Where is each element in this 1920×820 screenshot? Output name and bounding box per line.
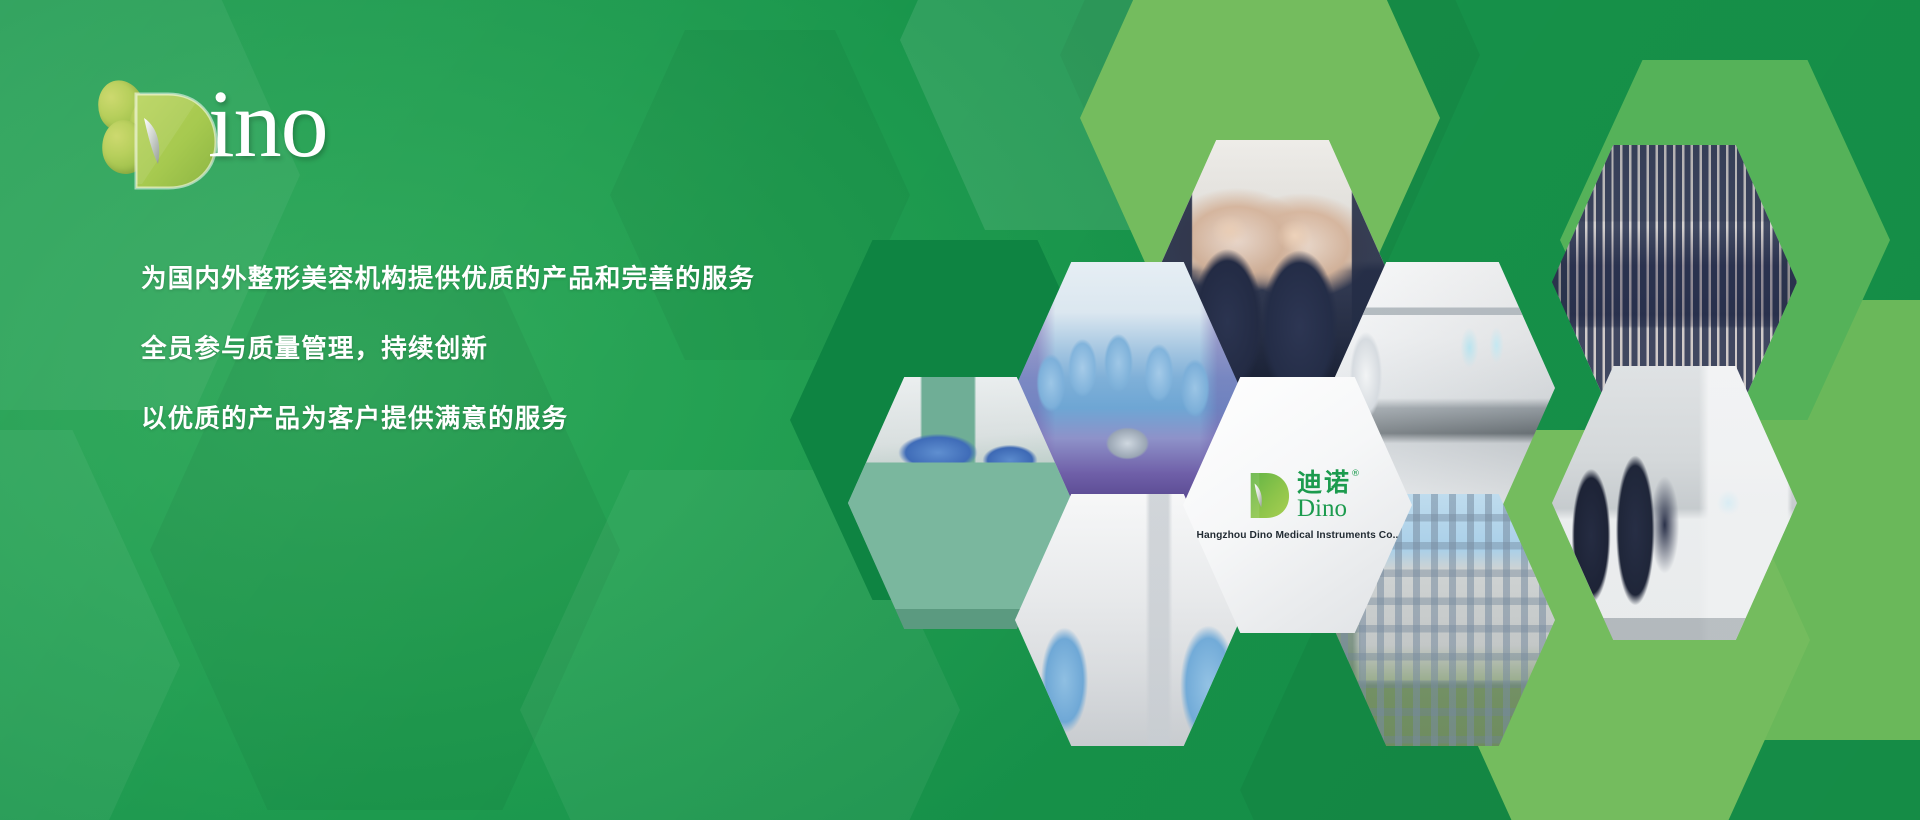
dino-leaf-mark-icon <box>1244 469 1290 521</box>
center-logo-name-en: Dino <box>1297 496 1347 521</box>
center-logo-name-cn: 迪诺® <box>1297 470 1351 495</box>
hero-banner: ino 为国内外整形美容机构提供优质的产品和完善的服务 全员参与质量管理，持续创… <box>0 0 1920 820</box>
registered-trademark-icon: ® <box>1351 470 1362 479</box>
photo-hexagon-cluster: 迪诺® Dino Hangzhou Dino Medical Instrumen… <box>0 0 1920 820</box>
photo-hex-cnc-machining-floor[interactable] <box>1552 366 1797 640</box>
center-logo-company-name: Hangzhou Dino Medical Instruments Co.. <box>1197 530 1399 541</box>
photo-cnc-machining-floor <box>1552 366 1797 640</box>
